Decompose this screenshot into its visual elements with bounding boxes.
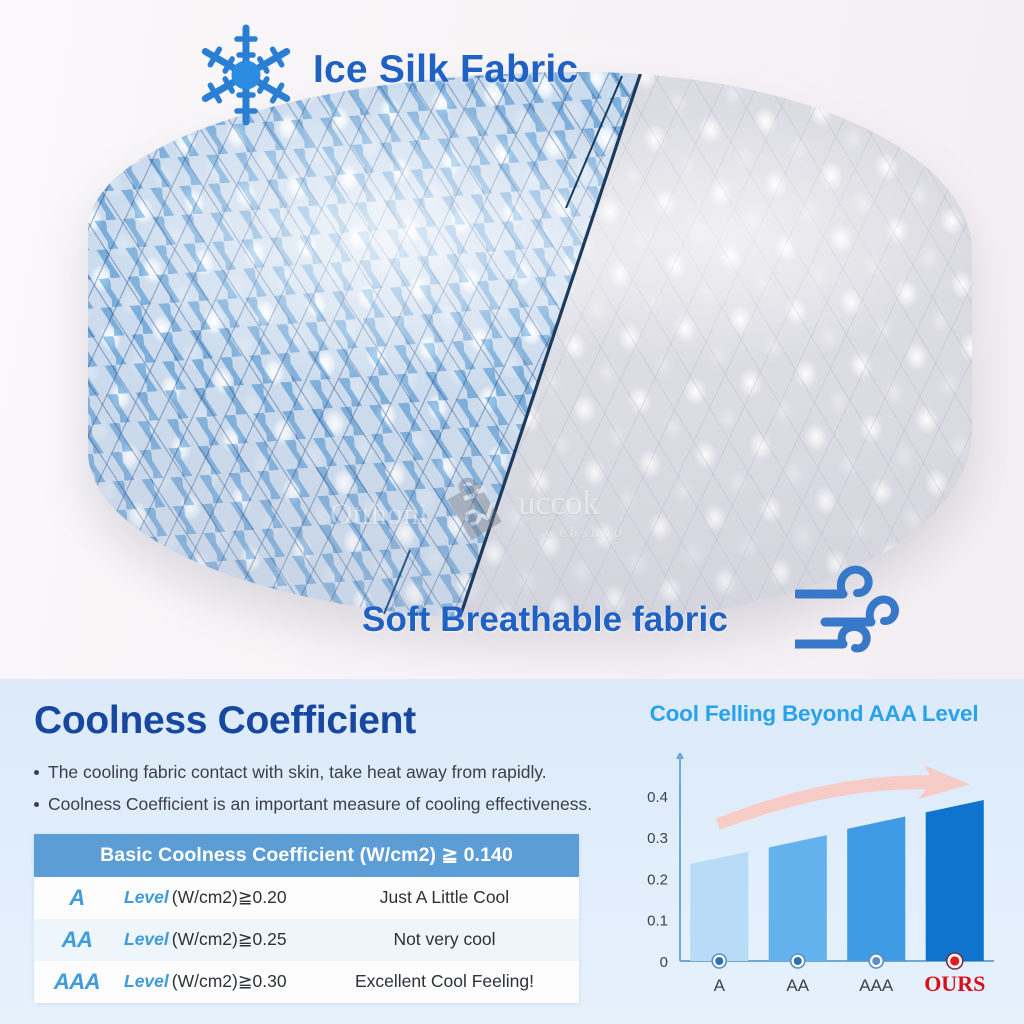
cell-spec: Level(W/cm2)≧0.25 <box>120 919 310 961</box>
bar-aa <box>769 835 827 961</box>
x-axis-marker-dot <box>794 957 802 965</box>
cell-level-word: Level <box>124 971 169 991</box>
cell-spec: Level(W/cm2)≧0.20 <box>120 877 310 919</box>
pillow-product <box>88 72 972 620</box>
cell-spec-value: (W/cm2)≧0.30 <box>172 971 287 991</box>
y-axis-arrow-icon <box>676 753 684 759</box>
x-axis-marker-dot <box>872 957 880 965</box>
cell-grade: A <box>34 877 120 919</box>
bar-chart: 00.10.20.30.4AAAAAAOURS <box>622 753 1006 1001</box>
cell-grade: AA <box>34 919 120 961</box>
bullet-text: Coolness Coefficient is an important mea… <box>48 792 592 817</box>
bar-aaa <box>847 817 905 961</box>
bullet-text: The cooling fabric contact with skin, ta… <box>48 760 547 785</box>
coolness-chart-block: Cool Felling Beyond AAA Level 00.10.20.3… <box>622 701 1006 1001</box>
wind-icon <box>795 552 899 669</box>
cell-description: Not very cool <box>310 919 579 961</box>
hero-product-image: Otthoni uccok w <box>0 0 1024 679</box>
y-axis-tick-label: 0.1 <box>647 913 668 930</box>
x-axis-category-label: A <box>714 976 726 995</box>
cell-spec-value: (W/cm2)≧0.20 <box>172 887 287 907</box>
cell-grade: AAA <box>34 961 120 1003</box>
cell-description: Just A Little Cool <box>310 877 579 919</box>
label-ice-silk-fabric: Ice Silk Fabric <box>313 48 578 92</box>
bar-ours <box>926 800 984 961</box>
coolness-panel: Coolness Coefficient The cooling fabric … <box>0 679 1024 1024</box>
x-axis-marker-dot <box>950 956 959 965</box>
label-soft-breathable-fabric: Soft Breathable fabric <box>362 600 728 640</box>
cell-level-word: Level <box>124 887 169 907</box>
cell-level-word: Level <box>124 929 169 949</box>
bar-a <box>690 852 748 961</box>
bullet-item: The cooling fabric contact with skin, ta… <box>34 760 604 785</box>
table-header-row: Basic Coolness Coefficient (W/cm2) ≧ 0.1… <box>34 834 579 877</box>
panel-title: Coolness Coefficient <box>34 701 604 742</box>
cell-spec: Level(W/cm2)≧0.30 <box>120 961 310 1003</box>
y-axis-tick-label: 0.3 <box>647 830 668 847</box>
cell-description: Excellent Cool Feeling! <box>310 961 579 1003</box>
snowflake-icon <box>193 22 299 133</box>
table-row: A Level(W/cm2)≧0.20 Just A Little Cool <box>34 877 579 919</box>
table-header-cell: Basic Coolness Coefficient (W/cm2) ≧ 0.1… <box>34 834 579 877</box>
y-axis-tick-label: 0 <box>660 954 668 971</box>
cell-spec-value: (W/cm2)≧0.25 <box>172 929 287 949</box>
bullet-list: The cooling fabric contact with skin, ta… <box>34 760 604 818</box>
chart-title: Cool Felling Beyond AAA Level <box>622 701 1006 727</box>
bullet-dot-icon <box>34 770 39 775</box>
table-row: AAA Level(W/cm2)≧0.30 Excellent Cool Fee… <box>34 961 579 1003</box>
table-row: AA Level(W/cm2)≧0.25 Not very cool <box>34 919 579 961</box>
x-axis-category-label: AAA <box>859 976 894 995</box>
y-axis-tick-label: 0.2 <box>647 871 668 888</box>
infographic-page: Otthoni uccok w <box>0 0 1024 1024</box>
pillow-body <box>88 72 972 620</box>
bullet-item: Coolness Coefficient is an important mea… <box>34 792 604 817</box>
x-axis-category-label: OURS <box>924 971 985 996</box>
coolness-coefficient-table: Basic Coolness Coefficient (W/cm2) ≧ 0.1… <box>34 834 579 1003</box>
y-axis-tick-label: 0.4 <box>647 789 668 806</box>
x-axis-marker-dot <box>715 957 723 965</box>
bullet-dot-icon <box>34 802 39 807</box>
coolness-info-block: Coolness Coefficient The cooling fabric … <box>34 701 604 1003</box>
x-axis-category-label: AA <box>786 976 809 995</box>
